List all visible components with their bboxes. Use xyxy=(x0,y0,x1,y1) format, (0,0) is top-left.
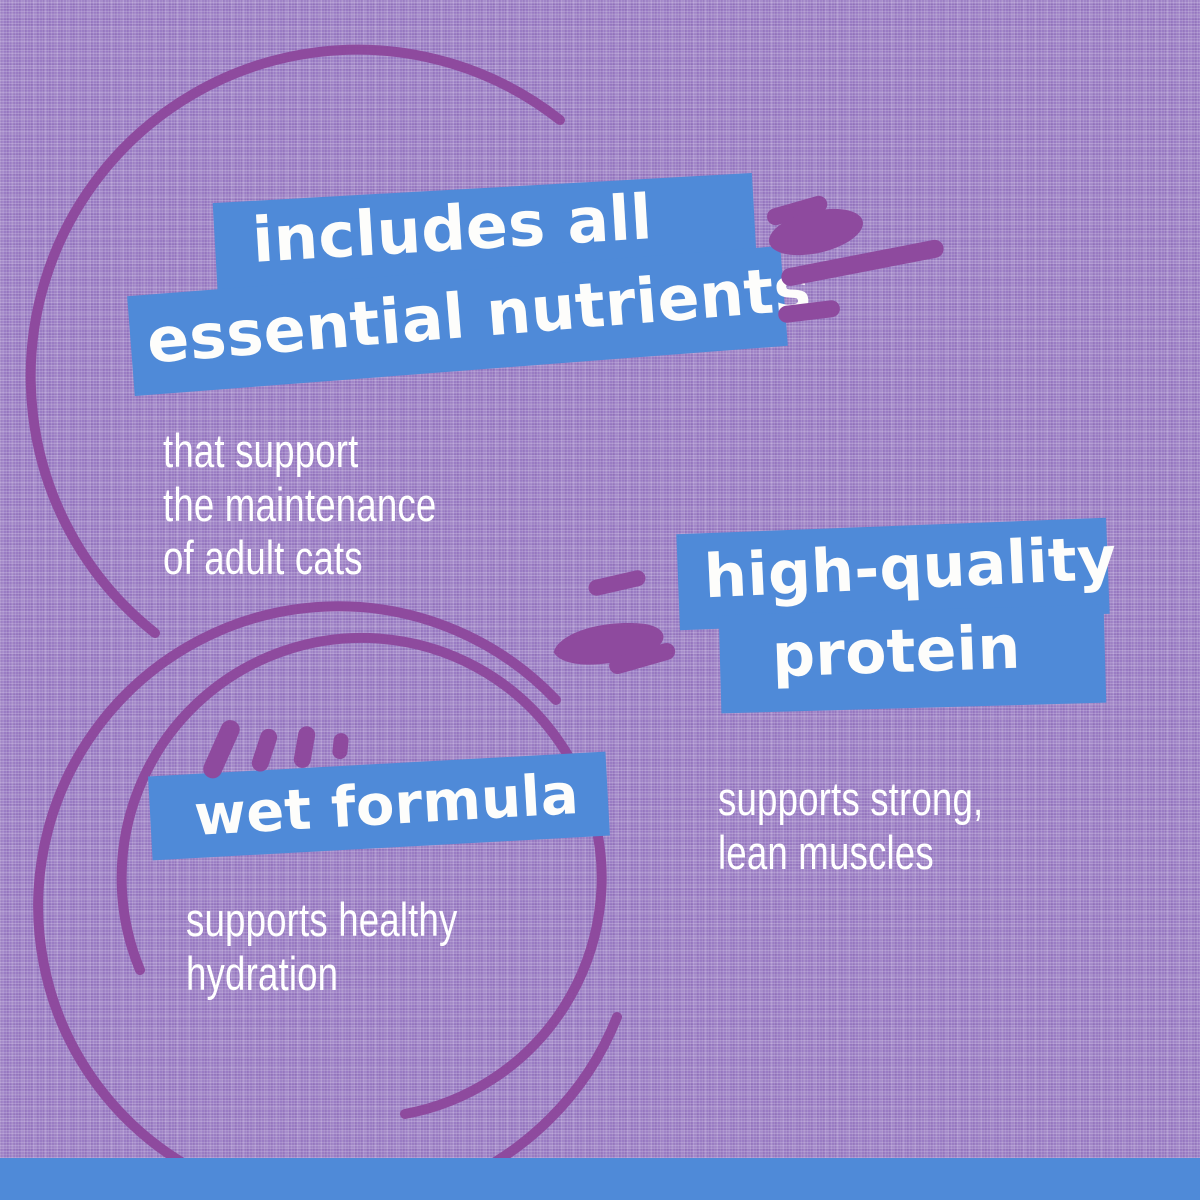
speed-lines-top-right xyxy=(765,194,946,324)
accent-marks-group xyxy=(0,0,1200,1200)
accent-marks-above-wet-formula xyxy=(200,717,349,781)
promo-graphic: includes all essential nutrients high-qu… xyxy=(0,0,1200,1200)
body-copy-wet-formula: supports healthy hydration xyxy=(186,893,458,1000)
accent-marks-mid-left xyxy=(551,569,677,676)
bottom-accent-bar xyxy=(0,1158,1200,1200)
body-copy-protein: supports strong, lean muscles xyxy=(718,772,983,879)
body-copy-nutrients: that support the maintenance of adult ca… xyxy=(163,424,436,585)
